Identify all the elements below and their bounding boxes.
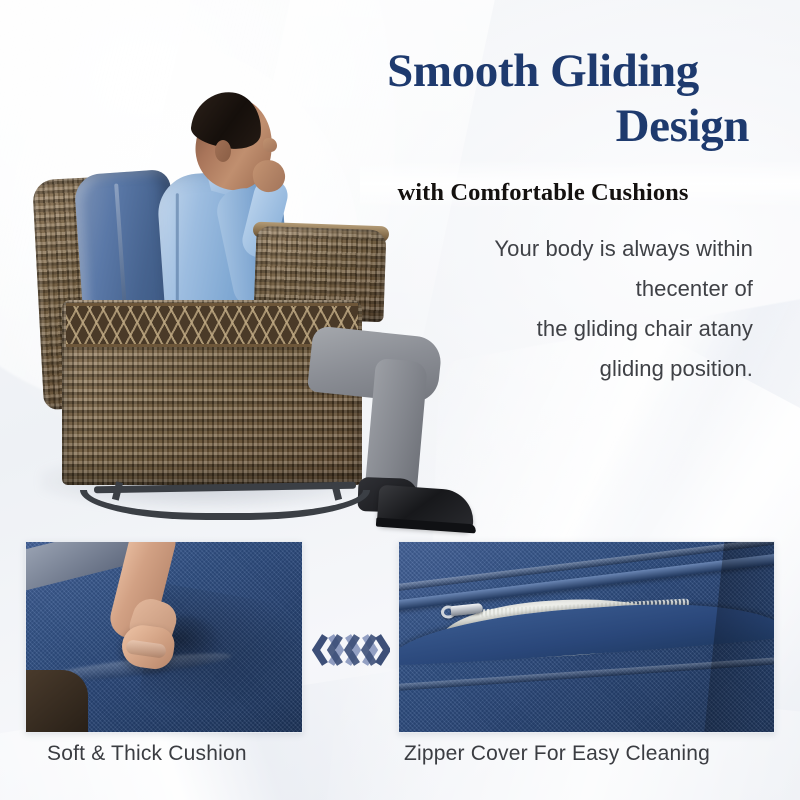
body-line-3: the gliding chair atany bbox=[333, 309, 753, 349]
chevron-diamond-row-icon bbox=[312, 628, 390, 672]
body-line-4: gliding position. bbox=[333, 349, 753, 389]
feature-panel-zipper-cover bbox=[398, 541, 775, 733]
person-nose bbox=[263, 138, 277, 152]
headline-line-1: Smooth Gliding bbox=[333, 44, 753, 99]
person-ear bbox=[215, 140, 231, 162]
caption-zipper-cover: Zipper Cover For Easy Cleaning bbox=[404, 742, 710, 766]
product-feature-poster: Smooth Gliding Design with Comfortable C… bbox=[0, 0, 800, 800]
cushion-dark-corner bbox=[25, 670, 88, 733]
feature-panel-soft-thick-cushion bbox=[25, 541, 303, 733]
glider-base-assembly bbox=[80, 480, 370, 522]
caption-soft-thick-cushion: Soft & Thick Cushion bbox=[47, 742, 247, 766]
body-line-2: thecenter of bbox=[333, 269, 753, 309]
glider-curved-rail bbox=[80, 490, 370, 520]
page-subtitle: with Comfortable Cushions bbox=[333, 179, 753, 207]
zipper-pull-slider bbox=[450, 603, 483, 616]
body-copy: Your body is always within thecenter of … bbox=[333, 229, 753, 389]
copy-block: Smooth Gliding Design with Comfortable C… bbox=[333, 44, 753, 389]
body-line-1: Your body is always within bbox=[333, 229, 753, 269]
page-title: Smooth Gliding Design bbox=[333, 44, 753, 153]
headline-line-2: Design bbox=[333, 99, 753, 154]
